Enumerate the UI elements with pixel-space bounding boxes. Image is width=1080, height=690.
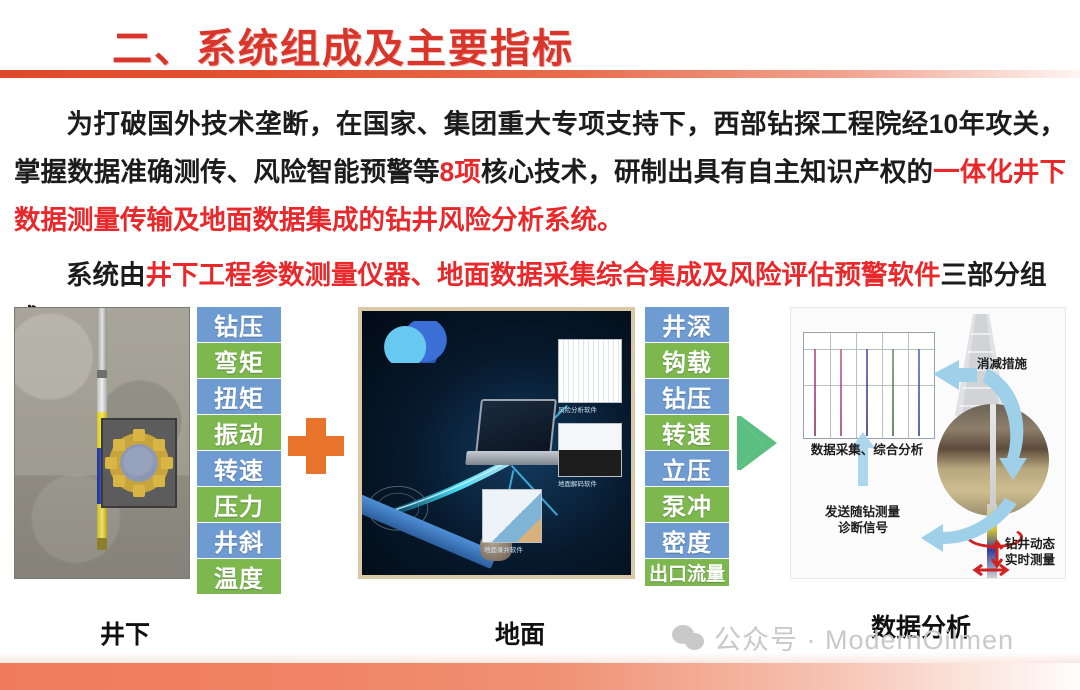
tag-downhole-2[interactable]: 扭矩 [197,379,281,414]
risk-analysis-software-window [558,339,622,403]
laptop-icon [466,399,562,473]
tag-surface-4[interactable]: 立压 [645,451,729,486]
tag-surface-6[interactable]: 密度 [645,523,729,558]
slide-header: 二、系统组成及主要指标 [0,0,1080,82]
tag-downhole-5[interactable]: 压力 [197,487,281,522]
label-acquisition: 数据采集、综合分析 [799,442,935,458]
wechat-icon [672,625,706,651]
drill-bit-icon [109,433,169,493]
tag-surface-3[interactable]: 转速 [645,415,729,450]
slide-root: 二、系统组成及主要指标 为打破国外技术垄断，在国家、集团重大专项支持下，西部钻探… [0,0,1080,690]
label-mudlogging-software: 地面录井软件 [484,544,523,554]
tag-surface-5[interactable]: 泵冲 [645,487,729,522]
data-analysis-diagram: 消减措施 数据采集、综合分析 发送随钻测量 诊断信号 钻井动态 实时测量 [790,307,1066,579]
label-transmit-line2: 诊断信号 [838,520,888,536]
tag-surface-7[interactable]: 出口流量 [645,559,729,586]
page-title: 二、系统组成及主要指标 [112,16,574,74]
tag-downhole-6[interactable]: 井斜 [197,523,281,558]
label-risk-software: 风险分析软件 [558,404,597,414]
header-divider [0,70,1080,78]
paragraph1-highlight-1: 8项 [440,157,481,187]
label-realtime-line1: 钻井动态 [1005,536,1055,552]
tag-downhole-4[interactable]: 转速 [197,451,281,486]
chevron-right-icon [733,412,781,474]
paragraph2-part1: 系统由 [66,260,146,290]
body-paragraph-1: 为打破国外技术垄断，在国家、集团重大专项支持下，西部钻探工程院经10年攻关，掌握… [14,100,1066,244]
tag-surface-0[interactable]: 井深 [645,307,729,342]
downhole-instrument-image [14,307,190,579]
paragraph1-part2: 核心技术，研制出具有自主知识产权的 [481,157,933,187]
surface-parameter-tags: 井深 钩载 钻压 转速 立压 泵冲 密度 出口流量 [645,307,729,579]
label-realtime-line2: 实时测量 [1005,552,1055,568]
caption-downhole: 井下 [100,615,150,651]
decoder-software-window [558,423,622,477]
plus-connector-icon [288,418,344,474]
label-decoder-software: 地面解码软件 [558,478,597,488]
tag-surface-1[interactable]: 钩载 [645,343,729,378]
paragraph2-highlight: 井下工程参数测量仪器、地面数据采集综合集成及风险评估预警软件 [146,260,941,290]
caption-surface: 地面 [495,615,545,651]
laptop-keyboard [465,451,562,465]
label-transmit-line1: 发送随钻测量 [825,504,900,520]
footer-bar [0,663,1080,690]
tag-surface-2[interactable]: 钻压 [645,379,729,414]
laptop-screen [475,399,557,455]
tag-downhole-0[interactable]: 钻压 [197,307,281,342]
label-mitigation: 消减措施 [977,356,1027,372]
plus-vertical-bar [306,418,326,474]
surface-acquisition-image: 风险分析软件 地面解码软件 地面录井软件 [358,307,635,579]
mudlogging-software-window [482,489,542,543]
tag-downhole-1[interactable]: 弯矩 [197,343,281,378]
sensor-subassembly [101,418,177,508]
downhole-parameter-tags: 钻压 弯矩 扭矩 振动 转速 压力 井斜 温度 [197,307,281,579]
tag-downhole-3[interactable]: 振动 [197,415,281,450]
tag-downhole-7[interactable]: 温度 [197,559,281,594]
